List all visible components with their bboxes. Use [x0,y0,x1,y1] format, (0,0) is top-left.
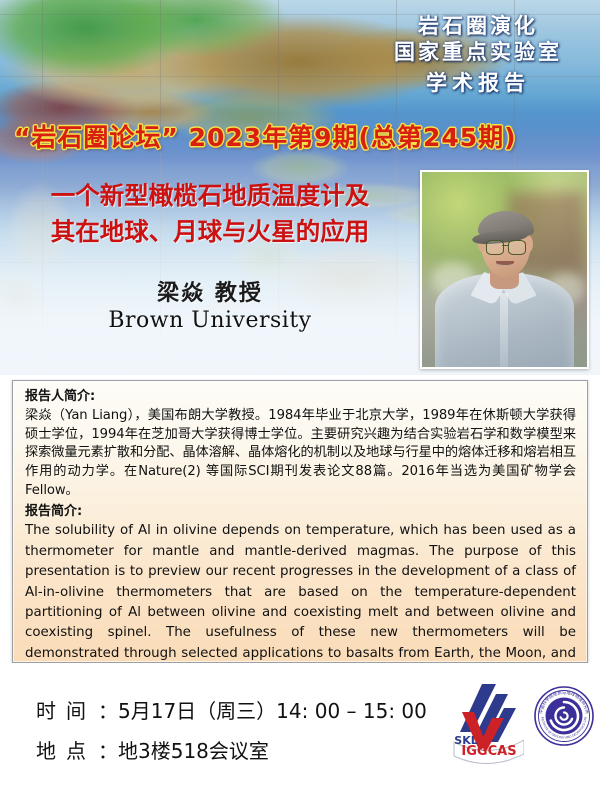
igg-cas-seal-logo: 中国科学院地质与地球物理研究所 INSTITUTE OF GEOLOGY AND… [534,686,594,746]
talk-abstract-heading: 报告简介: [25,504,576,521]
photo-shirt-placket [500,293,508,367]
photo-eyeglass-right [508,240,527,255]
talk-title-line-1: 一个新型橄榄石地质温度计及 [10,178,410,214]
photo-mouth [496,261,514,266]
lab-title-line-3: 学术报告 [368,71,588,97]
bio-text: 梁焱（Yan Liang），美国布朗大学教授。1984年毕业于北京大学，1989… [25,407,576,501]
speaker-name: 梁焱 教授 [10,275,410,307]
time-value: ：5月17日（周三）14: 00 – 15: 00 [98,699,427,723]
place-label: 地点 [36,735,96,764]
speaker-photo [420,170,589,369]
lab-title-line-1: 岩石圈演化 [368,14,588,40]
place-info-line: 地点：地3楼518会议室 [36,735,269,764]
laboratory-title: 岩石圈演化 国家重点实验室 学术报告 [368,14,588,97]
skl-iggcas-logo: IGGCAS SKL [452,682,524,764]
forum-series-banner: “岩石圈论坛” 2023年第9期(总第245期) [14,118,444,154]
igg-cas-seal-icon: 中国科学院地质与地球物理研究所 INSTITUTE OF GEOLOGY AND… [534,686,594,746]
talk-title-line-2: 其在地球、月球与火星的应用 [10,214,410,250]
talk-title: 一个新型橄榄石地质温度计及 其在地球、月球与火星的应用 [10,178,410,249]
skl-top-text: SKL [454,734,477,747]
time-info-line: 时间：5月17日（周三）14: 00 – 15: 00 [36,695,427,724]
bio-heading: 报告人简介: [25,389,576,406]
photo-eyeglass-left [486,240,505,255]
abstract-panel: 报告人简介: 梁焱（Yan Liang），美国布朗大学教授。1984年毕业于北京… [12,380,588,663]
lab-title-line-2: 国家重点实验室 [368,40,588,66]
photo-eyeglass-bridge [502,245,509,246]
time-label: 时间 [36,695,96,724]
seminar-poster: 岩石圈演化 国家重点实验室 学术报告 “岩石圈论坛” 2023年第9期(总第24… [0,0,600,798]
speaker-affiliation: Brown University [10,308,410,333]
talk-abstract-text: The solubility of Al in olivine depends … [25,521,576,663]
skl-iggcas-logo-icon: IGGCAS SKL [452,682,524,764]
place-value: ：地3楼518会议室 [98,739,269,763]
speaker-portrait-image [422,172,587,367]
